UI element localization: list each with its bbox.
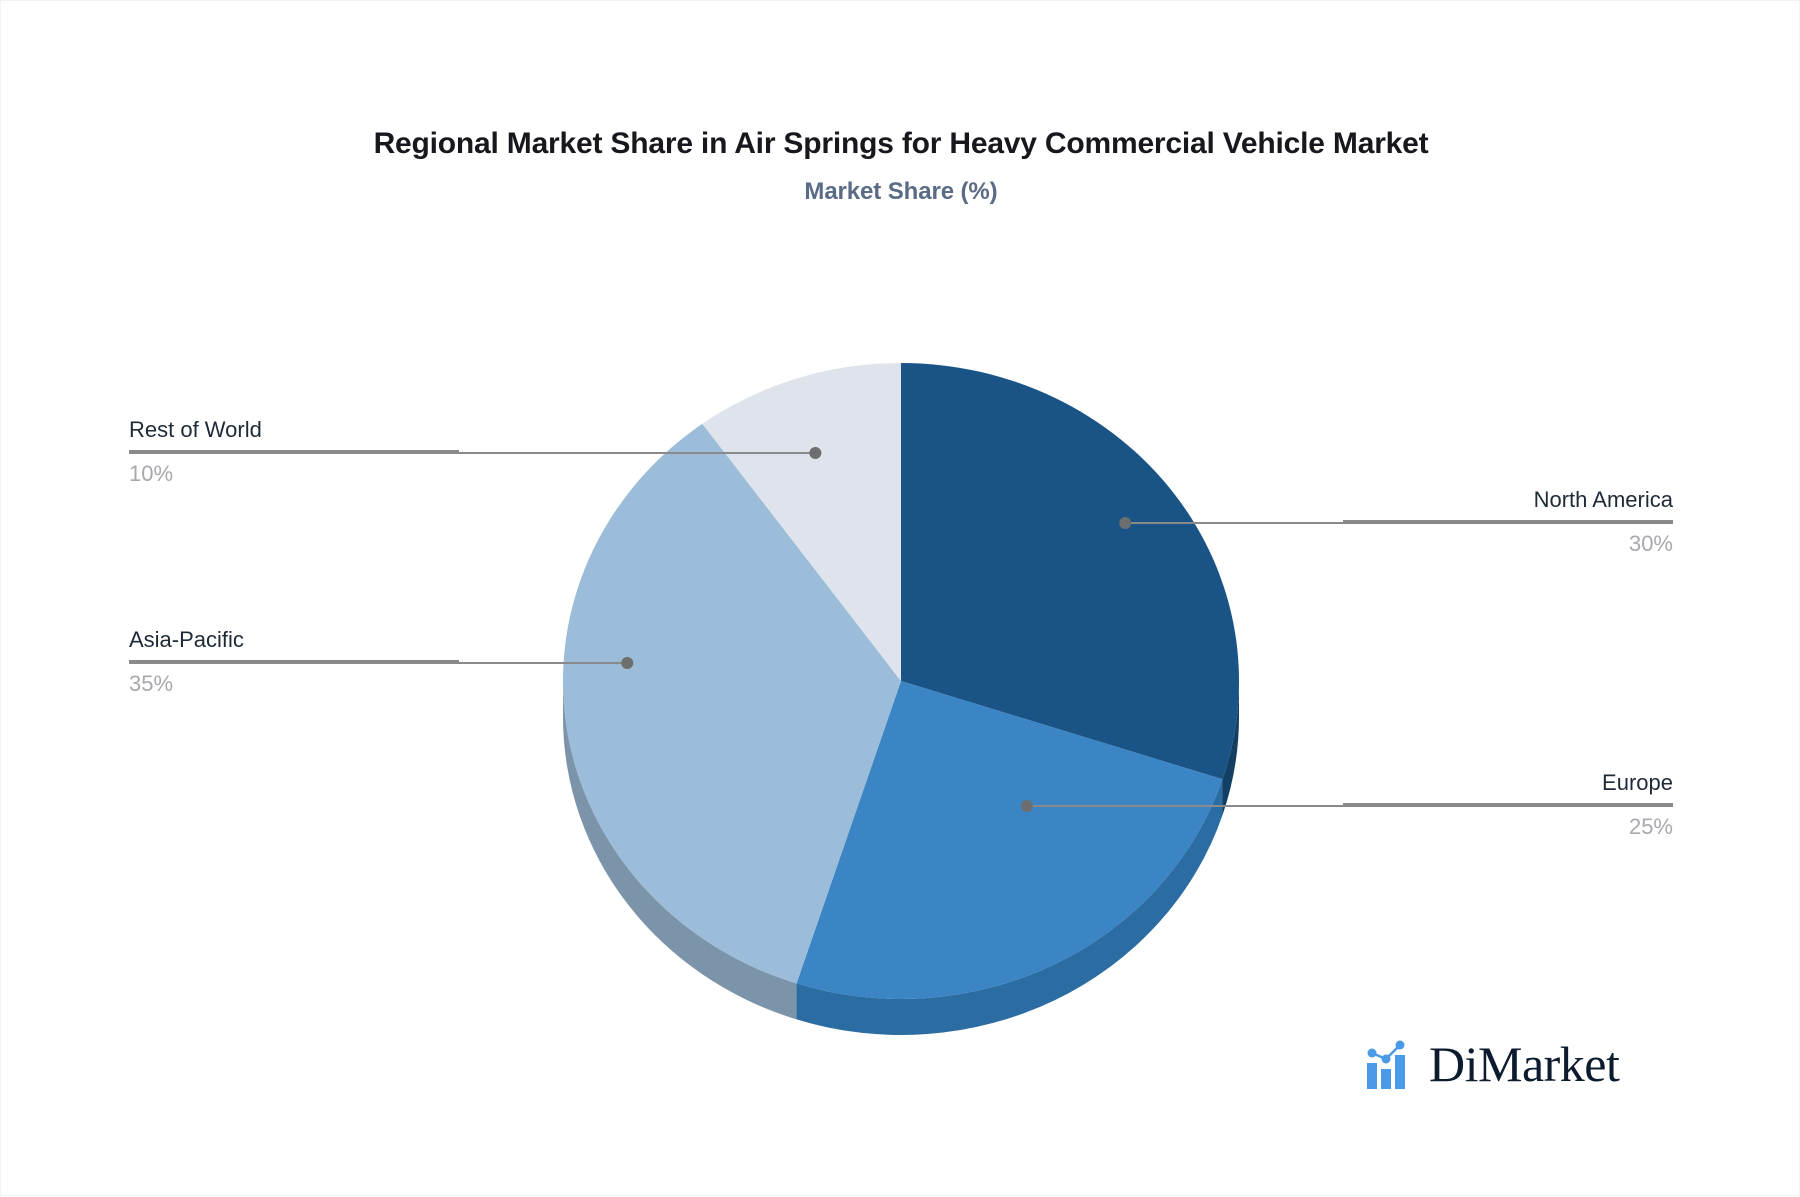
pie-slice-side xyxy=(563,681,797,1019)
callout-value: 25% xyxy=(1343,805,1673,841)
callout-asia-pacific[interactable]: Asia-Pacific 35% xyxy=(129,626,459,697)
page-title: Regional Market Share in Air Springs for… xyxy=(1,126,1800,162)
callout-value: 30% xyxy=(1343,522,1673,558)
callout-north-america[interactable]: North America 30% xyxy=(1343,486,1673,557)
pie-slice[interactable] xyxy=(901,363,1239,779)
callout-label: Rest of World xyxy=(129,416,459,450)
title-block: Regional Market Share in Air Springs for… xyxy=(1,126,1800,206)
callout-label: Europe xyxy=(1343,769,1673,803)
bar-chart-logo-icon xyxy=(1365,1039,1419,1089)
pie-slice[interactable] xyxy=(702,363,901,681)
leader-dot xyxy=(621,657,633,669)
leader-dot xyxy=(809,447,821,459)
pie-slice[interactable] xyxy=(563,424,901,984)
leader-dot xyxy=(1119,517,1131,529)
pie-slices xyxy=(563,363,1239,999)
callout-value: 10% xyxy=(129,452,459,488)
callout-label: North America xyxy=(1343,486,1673,520)
pie-3d-sides xyxy=(563,681,1239,1035)
callout-value: 35% xyxy=(129,662,459,698)
callout-rest-of-world[interactable]: Rest of World 10% xyxy=(129,416,459,487)
callout-europe[interactable]: Europe 25% xyxy=(1343,769,1673,840)
chart-subtitle: Market Share (%) xyxy=(1,162,1800,206)
chart-canvas: Regional Market Share in Air Springs for… xyxy=(0,0,1800,1196)
leader-dot xyxy=(1021,800,1033,812)
logo-text: DiMarket xyxy=(1429,1039,1619,1089)
pie-slice-side xyxy=(797,779,1223,1035)
pie-slice-side xyxy=(1222,681,1239,815)
dimarket-logo[interactable]: DiMarket xyxy=(1365,1039,1619,1089)
pie-slice[interactable] xyxy=(797,681,1223,999)
callout-label: Asia-Pacific xyxy=(129,626,459,660)
